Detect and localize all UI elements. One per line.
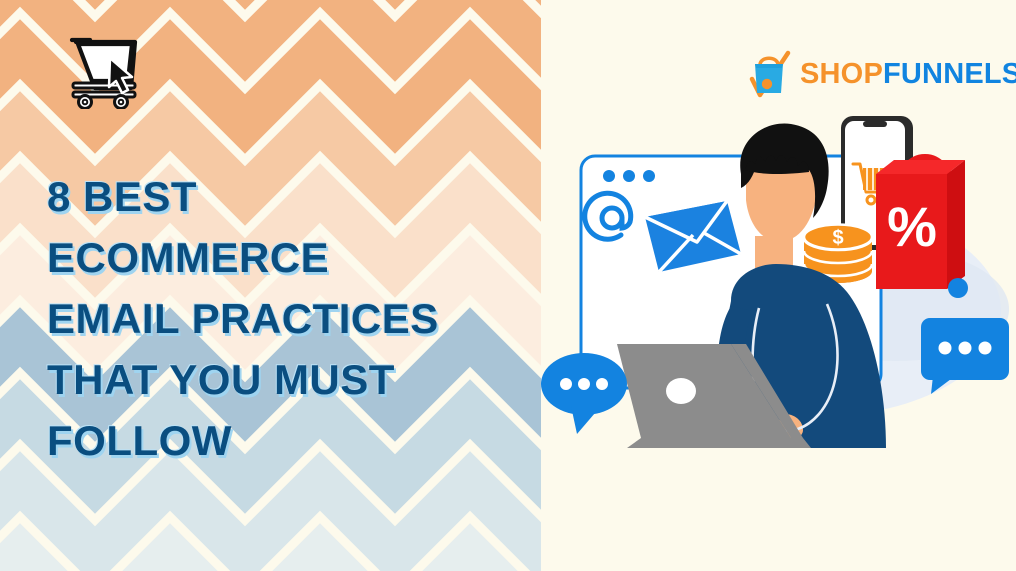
window-dots <box>603 170 655 182</box>
accent-dot <box>948 278 968 298</box>
chat-bubble-right <box>921 318 1009 394</box>
shopping-cart-cursor-icon <box>46 31 142 109</box>
shopping-bag: % <box>876 157 965 289</box>
chat-bubble-left <box>541 353 627 434</box>
shopping-bag-logo-icon <box>748 49 791 99</box>
logo-word-funnels: FUNNELS <box>883 58 1016 90</box>
banner-root: 8 BEST ECOMMERCE EMAIL PRACTICES THAT YO… <box>0 0 1016 571</box>
brand-logo[interactable]: SHOPFUNNELS <box>748 46 1016 102</box>
logo-word-shop: SHOP <box>800 58 883 90</box>
hero-illustration: $ % <box>541 96 1016 476</box>
svg-text:$: $ <box>832 227 843 249</box>
brand-logo-text: SHOPFUNNELS <box>800 60 1016 89</box>
svg-text:%: % <box>887 195 937 258</box>
page-title: 8 BEST ECOMMERCE EMAIL PRACTICES THAT YO… <box>47 166 517 471</box>
